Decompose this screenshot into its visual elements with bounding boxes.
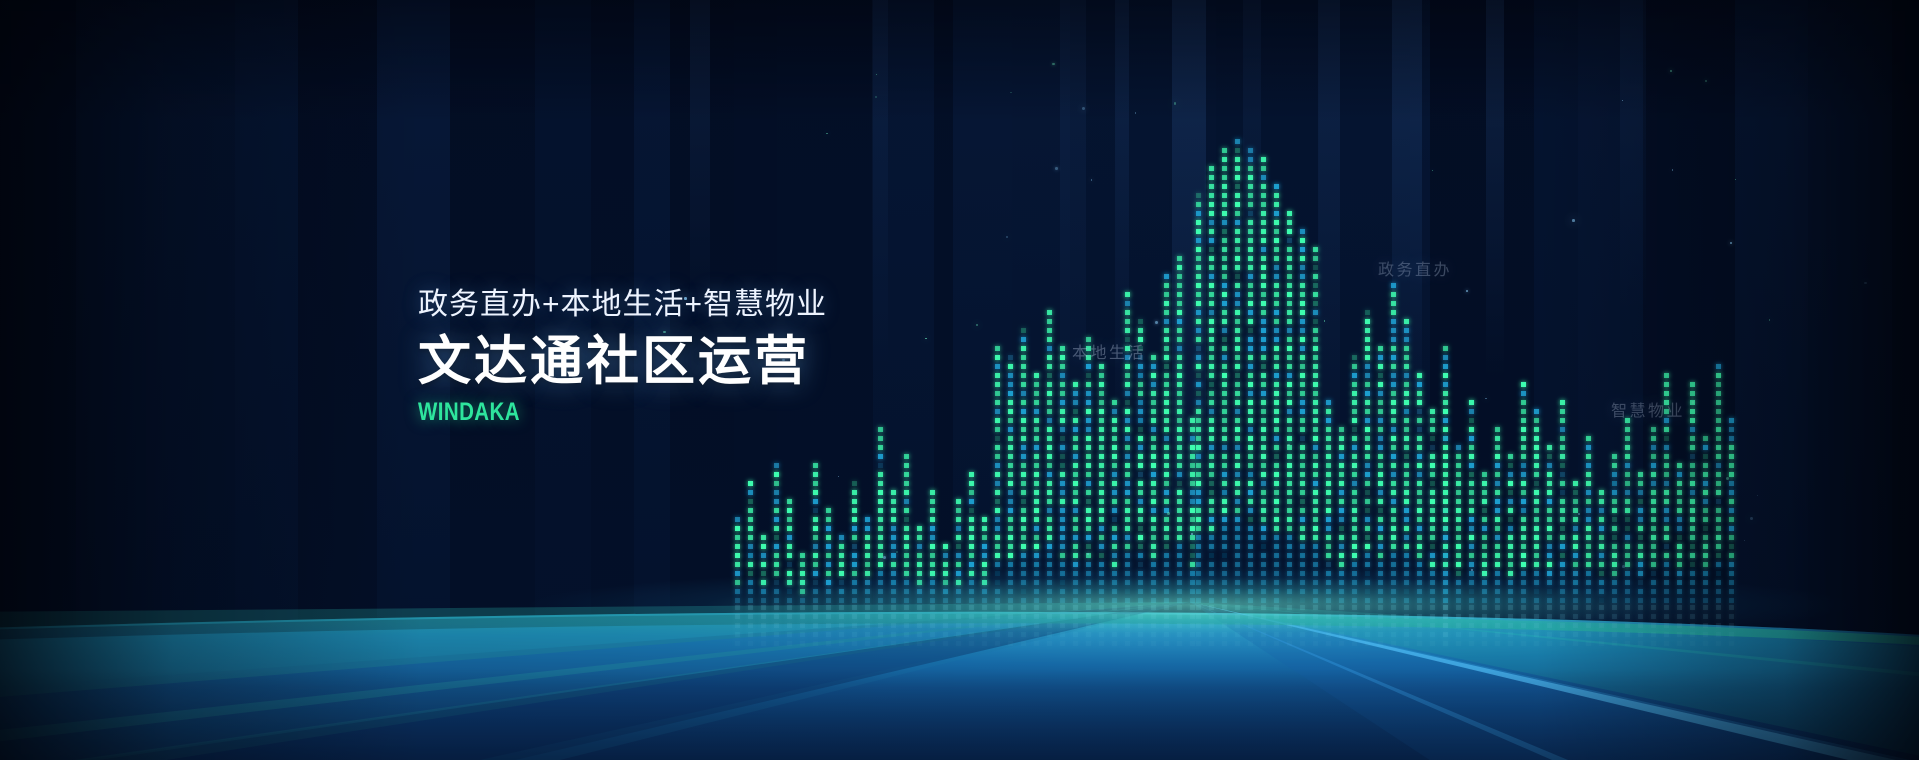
- skyline-dot: [1047, 589, 1052, 594]
- skyline-dot: [813, 598, 818, 603]
- skyline-dot: [1222, 202, 1227, 207]
- brand-wordmark: WINDAKA: [418, 400, 753, 425]
- skyline-dot: [1248, 229, 1253, 234]
- skyline-dot: [1521, 436, 1526, 441]
- skyline-dot: [1274, 319, 1279, 324]
- skyline-dot: [1099, 553, 1104, 558]
- skyline-dot: [1547, 562, 1552, 567]
- skyline-dot: [1248, 256, 1253, 261]
- skyline-dot-reflection: [1209, 641, 1214, 646]
- skyline-dot: [1248, 589, 1253, 594]
- skyline-dot-reflection: [1508, 605, 1513, 610]
- skyline-dot: [1209, 229, 1214, 234]
- skyline-dot: [1482, 589, 1487, 594]
- skyline-dot-reflection: [1060, 623, 1065, 628]
- skyline-dot: [1443, 418, 1448, 423]
- skyline-dot: [1261, 319, 1266, 324]
- skyline-dot: [1112, 427, 1117, 432]
- skyline-dot: [1274, 508, 1279, 513]
- skyline-dot: [1261, 175, 1266, 180]
- skyline-dot: [1261, 184, 1266, 189]
- skyline-dot-reflection: [1034, 614, 1039, 619]
- skyline-dot: [1365, 373, 1370, 378]
- skyline-dot: [1008, 463, 1013, 468]
- skyline-dot: [1047, 580, 1052, 585]
- skyline-dot: [852, 490, 857, 495]
- skyline-dot: [1456, 508, 1461, 513]
- skyline-dot: [1495, 490, 1500, 495]
- skyline-dot: [1417, 571, 1422, 576]
- skyline-dot: [956, 526, 961, 531]
- skyline-dot: [1248, 445, 1253, 450]
- skyline-dot-reflection: [1443, 641, 1448, 646]
- skyline-dot-reflection: [826, 623, 831, 628]
- skyline-dot: [1047, 562, 1052, 567]
- skyline-dot: [1729, 463, 1734, 468]
- skyline-dot-reflection: [1222, 632, 1227, 637]
- skyline-dot: [1365, 319, 1370, 324]
- skyline-dot: [1534, 508, 1539, 513]
- skyline-dot-reflection: [1235, 632, 1240, 637]
- skyline-dot: [1060, 508, 1065, 513]
- skyline-dot: [1021, 481, 1026, 486]
- skyline-dot: [1235, 274, 1240, 279]
- skyline-dot: [1391, 454, 1396, 459]
- skyline-dot: [1151, 445, 1156, 450]
- skyline-dot: [1222, 220, 1227, 225]
- skyline-dot: [1196, 382, 1201, 387]
- skyline-dot: [1586, 598, 1591, 603]
- skyline-dot-reflection: [1664, 605, 1669, 610]
- perspective-ray: [0, 602, 1190, 760]
- skyline-dot-reflection: [774, 614, 779, 619]
- skyline-dot: [1287, 481, 1292, 486]
- skyline-dot: [1261, 472, 1266, 477]
- skyline-dot-reflection: [1508, 614, 1513, 619]
- skyline-dot: [891, 580, 896, 585]
- skyline-dot: [1060, 580, 1065, 585]
- skyline-dot: [1086, 400, 1091, 405]
- skyline-dot: [865, 580, 870, 585]
- skyline-dot: [1391, 499, 1396, 504]
- skyline-dot-reflection: [1138, 614, 1143, 619]
- skyline-dot-reflection: [865, 605, 870, 610]
- skyline-dot: [1060, 517, 1065, 522]
- skyline-dot: [774, 499, 779, 504]
- skyline-dot: [1560, 418, 1565, 423]
- skyline-dot: [748, 580, 753, 585]
- skyline-dot: [1495, 454, 1500, 459]
- skyline-dot: [1073, 571, 1078, 576]
- skyline-dot-reflection: [1261, 632, 1266, 637]
- skyline-dot: [1677, 589, 1682, 594]
- skyline-dot: [1164, 508, 1169, 513]
- skyline-dot: [1177, 364, 1182, 369]
- skyline-dot: [1469, 418, 1474, 423]
- skyline-dot: [1060, 454, 1065, 459]
- skyline-dot-reflection: [1164, 605, 1169, 610]
- skyline-dot: [995, 346, 1000, 351]
- skyline-dot: [1047, 346, 1052, 351]
- skyline-dot: [1443, 427, 1448, 432]
- skyline-dot: [1690, 562, 1695, 567]
- ground-svg: [0, 0, 1919, 760]
- skyline-dot-reflection: [1339, 641, 1344, 646]
- skyline-dot: [1209, 211, 1214, 216]
- skyline-dot: [1417, 373, 1422, 378]
- skyline-dot: [1729, 454, 1734, 459]
- skyline-dot: [891, 553, 896, 558]
- skyline-dot-reflection: [1326, 614, 1331, 619]
- skyline-dot: [1417, 544, 1422, 549]
- skyline-dot: [1313, 346, 1318, 351]
- skyline-dot: [1261, 598, 1266, 603]
- skyline-dot: [1378, 490, 1383, 495]
- skyline-dot: [1086, 490, 1091, 495]
- skyline-dot: [1112, 463, 1117, 468]
- skyline-dot: [969, 598, 974, 603]
- skyline-dot-reflection: [1034, 605, 1039, 610]
- skyline-dot: [1261, 229, 1266, 234]
- skyline-dot: [1547, 571, 1552, 576]
- skyline-dot-reflection: [1365, 614, 1370, 619]
- skyline-dot: [943, 544, 948, 549]
- skyline-dot: [917, 598, 922, 603]
- skyline-dot: [969, 508, 974, 513]
- skyline-dot-reflection: [1612, 605, 1617, 610]
- background-stripe: [934, 0, 954, 760]
- skyline-dot-reflection: [735, 605, 740, 610]
- skyline-dot: [1151, 526, 1156, 531]
- skyline-dot: [1248, 319, 1253, 324]
- skyline-dot: [1086, 598, 1091, 603]
- skyline-dot: [1287, 247, 1292, 252]
- skyline-dot: [1326, 499, 1331, 504]
- skyline-dot: [1164, 274, 1169, 279]
- skyline-dot: [1222, 535, 1227, 540]
- skyline-dot: [1138, 499, 1143, 504]
- skyline-dot: [1287, 499, 1292, 504]
- skyline-dot: [1404, 598, 1409, 603]
- skyline-dot: [1521, 580, 1526, 585]
- skyline-dot-reflection: [1534, 623, 1539, 628]
- skyline-dot: [1138, 535, 1143, 540]
- skyline-dot: [1086, 517, 1091, 522]
- skyline-dot: [1274, 553, 1279, 558]
- skyline-dot-reflection: [1326, 605, 1331, 610]
- skyline-dot: [1209, 373, 1214, 378]
- skyline-dot: [1261, 265, 1266, 270]
- skyline-dot: [1534, 499, 1539, 504]
- skyline-dot: [1443, 445, 1448, 450]
- skyline-dot: [1248, 157, 1253, 162]
- skyline-dot: [1560, 400, 1565, 405]
- skyline-dot: [1300, 454, 1305, 459]
- sparkle-particle: [1082, 107, 1085, 110]
- skyline-dot: [1352, 571, 1357, 576]
- skyline-dot: [1365, 499, 1370, 504]
- skyline-dot-reflection: [1287, 614, 1292, 619]
- skyline-dot: [1443, 508, 1448, 513]
- skyline-dot: [1313, 373, 1318, 378]
- skyline-dot: [1443, 571, 1448, 576]
- skyline-dot-reflection: [761, 623, 766, 628]
- skyline-dot: [1196, 256, 1201, 261]
- skyline-dot: [1339, 508, 1344, 513]
- skyline-dot: [1404, 409, 1409, 414]
- skyline-dot: [1495, 562, 1500, 567]
- skyline-dot: [1430, 409, 1435, 414]
- skyline-dot: [1560, 445, 1565, 450]
- skyline-dot: [1716, 391, 1721, 396]
- skyline-dot: [1008, 589, 1013, 594]
- skyline-dot: [1326, 508, 1331, 513]
- skyline-dot-reflection: [1261, 605, 1266, 610]
- skyline-dot: [748, 481, 753, 486]
- skyline-dot: [1378, 454, 1383, 459]
- skyline-dot-reflection: [1716, 632, 1721, 637]
- skyline-dot: [1508, 553, 1513, 558]
- skyline-dot: [1300, 292, 1305, 297]
- skyline-dot-reflection: [1573, 632, 1578, 637]
- skyline-dot: [1248, 517, 1253, 522]
- skyline-dot: [813, 526, 818, 531]
- skyline-dot: [1138, 517, 1143, 522]
- skyline-dot: [826, 553, 831, 558]
- background-stripe: [1169, 0, 1216, 760]
- skyline-dot: [1586, 472, 1591, 477]
- skyline-dot: [1313, 283, 1318, 288]
- skyline-dot: [904, 580, 909, 585]
- skyline-dot: [878, 427, 883, 432]
- skyline-dot: [1677, 463, 1682, 468]
- skyline-dot: [995, 598, 1000, 603]
- skyline-dot: [1209, 184, 1214, 189]
- skyline-dot: [1021, 517, 1026, 522]
- skyline-dot: [1612, 490, 1617, 495]
- skyline-dot: [1443, 553, 1448, 558]
- skyline-dot: [1190, 553, 1195, 558]
- background-stripe: [1116, 0, 1170, 760]
- skyline-dot: [1099, 499, 1104, 504]
- skyline-dot: [1443, 598, 1448, 603]
- sparkle-particle: [1572, 219, 1575, 222]
- skyline-dot: [1209, 427, 1214, 432]
- skyline-dot: [1716, 481, 1721, 486]
- skyline-dot-reflection: [1638, 632, 1643, 637]
- skyline-dot: [1378, 418, 1383, 423]
- skyline-dot: [1417, 580, 1422, 585]
- skyline-dot-reflection: [1599, 614, 1604, 619]
- skyline-dot: [1300, 499, 1305, 504]
- skyline-dot: [1008, 445, 1013, 450]
- skyline-dot: [1209, 274, 1214, 279]
- light-beam: [872, 0, 888, 400]
- skyline-dot: [1443, 517, 1448, 522]
- skyline-dot: [1716, 436, 1721, 441]
- skyline-dot: [930, 553, 935, 558]
- skyline-dot: [1534, 571, 1539, 576]
- skyline-dot: [1690, 427, 1695, 432]
- skyline-dot: [1625, 499, 1630, 504]
- perspective-ray: [1190, 602, 1919, 700]
- skyline-dot: [1443, 481, 1448, 486]
- skyline-dot: [1612, 598, 1617, 603]
- skyline-dot: [1034, 553, 1039, 558]
- sparkle-particle: [1191, 533, 1193, 535]
- skyline-dot: [1638, 580, 1643, 585]
- skyline-dot-reflection: [839, 632, 844, 637]
- skyline-dot: [1703, 571, 1708, 576]
- skyline-dot: [1326, 436, 1331, 441]
- skyline-dot: [1599, 517, 1604, 522]
- skyline-dot: [1352, 553, 1357, 558]
- skyline-dot: [735, 544, 740, 549]
- skyline-dot: [1287, 544, 1292, 549]
- skyline-dot: [1099, 418, 1104, 423]
- skyline-dot: [1008, 364, 1013, 369]
- skyline-dot: [1352, 373, 1357, 378]
- skyline-dot: [1417, 454, 1422, 459]
- skyline-dot: [1261, 526, 1266, 531]
- skyline-dot: [1209, 553, 1214, 558]
- skyline-dot-reflection: [1060, 641, 1065, 646]
- skyline-dot: [1300, 445, 1305, 450]
- skyline-dot: [1365, 409, 1370, 414]
- sparkle-particle: [1135, 112, 1137, 114]
- skyline-dot: [1391, 580, 1396, 585]
- skyline-dot: [1287, 238, 1292, 243]
- sparkle-particle: [1705, 80, 1707, 82]
- skyline-dot: [1177, 301, 1182, 306]
- skyline-dot: [943, 589, 948, 594]
- skyline-dot: [1151, 517, 1156, 522]
- skyline-dot: [1274, 184, 1279, 189]
- skyline-dot-reflection: [930, 614, 935, 619]
- skyline-dot: [1417, 553, 1422, 558]
- skyline-dot: [1703, 463, 1708, 468]
- skyline-dot: [1326, 490, 1331, 495]
- skyline-dot: [1300, 562, 1305, 567]
- skyline-dot-reflection: [1443, 605, 1448, 610]
- skyline-dot: [1599, 553, 1604, 558]
- skyline-dot: [995, 391, 1000, 396]
- skyline-dot: [1073, 481, 1078, 486]
- skyline-dot: [1248, 355, 1253, 360]
- skyline-dot: [1482, 526, 1487, 531]
- skyline-dot: [1086, 481, 1091, 486]
- skyline-dot: [1443, 598, 1448, 603]
- skyline-dot: [1469, 562, 1474, 567]
- skyline-dot: [1625, 535, 1630, 540]
- skyline-dot: [1612, 454, 1617, 459]
- skyline-dot: [1222, 319, 1227, 324]
- skyline-dot: [1177, 400, 1182, 405]
- skyline-dot-reflection: [852, 641, 857, 646]
- skyline-dot: [1417, 463, 1422, 468]
- skyline-dot: [1060, 463, 1065, 468]
- skyline-dot: [1073, 562, 1078, 567]
- skyline-dot-reflection: [1073, 623, 1078, 628]
- skyline-dot: [1008, 418, 1013, 423]
- skyline-dot: [904, 490, 909, 495]
- skyline-dot: [1547, 454, 1552, 459]
- skyline-dot: [995, 553, 1000, 558]
- skyline-dot: [1573, 553, 1578, 558]
- skyline-dot: [1300, 409, 1305, 414]
- skyline-dot: [1034, 508, 1039, 513]
- skyline-dot: [1164, 382, 1169, 387]
- skyline-dot: [1196, 400, 1201, 405]
- skyline-dot-reflection: [813, 614, 818, 619]
- skyline-dot: [1177, 544, 1182, 549]
- sparkle-particle: [1730, 242, 1732, 244]
- skyline-dot-reflection: [930, 605, 935, 610]
- dotted-bar-skyline-chart: [0, 0, 1919, 760]
- skyline-dot-reflection: [1151, 632, 1156, 637]
- skyline-dot: [813, 535, 818, 540]
- skyline-dot: [1021, 499, 1026, 504]
- skyline-dot: [1430, 454, 1435, 459]
- skyline-dot-reflection: [826, 614, 831, 619]
- skyline-dot: [1300, 274, 1305, 279]
- skyline-dot: [1651, 526, 1656, 531]
- skyline-dot-reflection: [1086, 605, 1091, 610]
- skyline-dot: [1209, 301, 1214, 306]
- skyline-dot: [1508, 454, 1513, 459]
- skyline-dot: [1404, 328, 1409, 333]
- skyline-dot: [1151, 481, 1156, 486]
- skyline-dot: [904, 526, 909, 531]
- skyline-dot: [1417, 589, 1422, 594]
- skyline-dot: [1196, 274, 1201, 279]
- skyline-dot-reflection: [1235, 614, 1240, 619]
- skyline-dot: [1021, 463, 1026, 468]
- horizon-band: [0, 614, 1919, 646]
- skyline-dot-reflection: [865, 614, 870, 619]
- skyline-dot: [1222, 382, 1227, 387]
- skyline-dot: [1190, 445, 1195, 450]
- skyline-dot: [1378, 427, 1383, 432]
- skyline-dot: [1274, 598, 1279, 603]
- skyline-dot: [1716, 526, 1721, 531]
- skyline-dot: [1443, 589, 1448, 594]
- skyline-dot: [1008, 391, 1013, 396]
- skyline-dot: [1060, 373, 1065, 378]
- skyline-dot: [1190, 427, 1195, 432]
- skyline-dot: [1047, 526, 1052, 531]
- skyline-dot: [1378, 373, 1383, 378]
- skyline-dot: [1365, 445, 1370, 450]
- skyline-dot: [761, 598, 766, 603]
- skyline-dot: [1209, 436, 1214, 441]
- skyline-dot: [1209, 247, 1214, 252]
- skyline-dot: [1326, 472, 1331, 477]
- skyline-dot: [1651, 544, 1656, 549]
- skyline-dot: [852, 571, 857, 576]
- skyline-dot: [1638, 499, 1643, 504]
- skyline-dot: [1248, 247, 1253, 252]
- skyline-dot: [1651, 589, 1656, 594]
- skyline-dot: [1222, 256, 1227, 261]
- skyline-dot: [1391, 319, 1396, 324]
- sparkle-particle: [1087, 553, 1089, 555]
- skyline-dot: [1235, 445, 1240, 450]
- skyline-dot: [1248, 409, 1253, 414]
- skyline-dot: [800, 580, 805, 585]
- skyline-dot: [1638, 490, 1643, 495]
- skyline-dot: [1008, 373, 1013, 378]
